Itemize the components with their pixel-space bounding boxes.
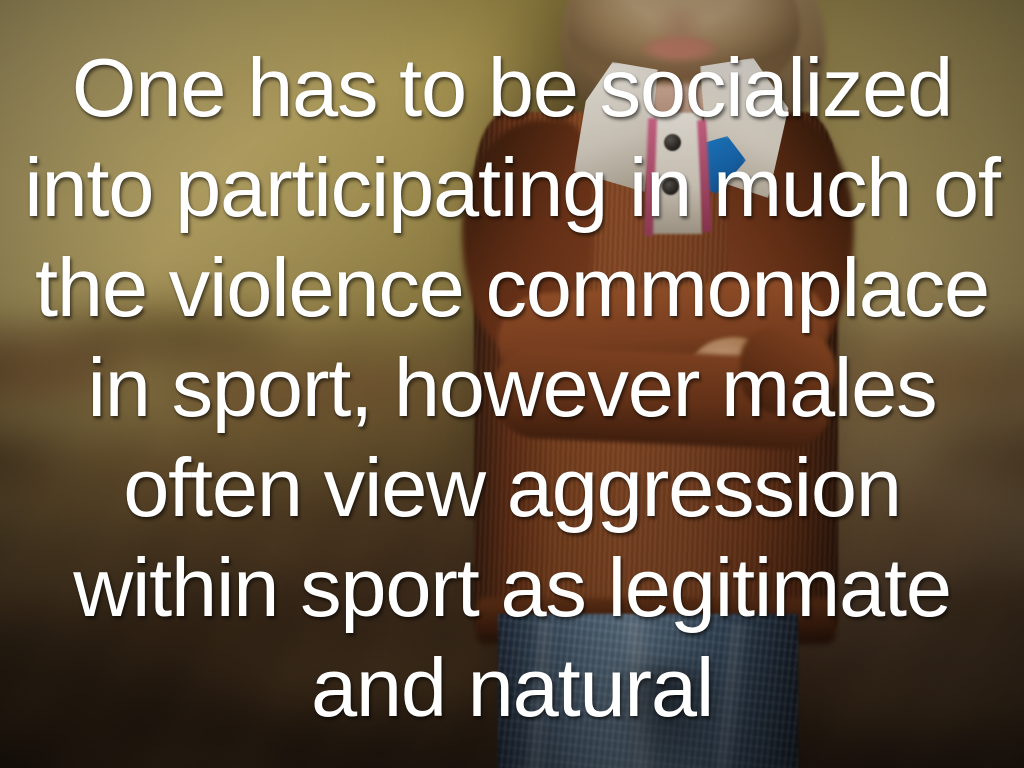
quote-line-1: One has to be socialized bbox=[72, 38, 952, 138]
quote-line-2: into participating in much of bbox=[24, 138, 1000, 238]
quote-slide: One has to be socialized into participat… bbox=[0, 0, 1024, 768]
quote-line-6: within sport as legitimate bbox=[73, 538, 951, 638]
quote-text-block: One has to be socialized into participat… bbox=[0, 0, 1024, 768]
quote-line-4: in sport, however males bbox=[88, 338, 937, 438]
quote-line-3: the violence commonplace bbox=[35, 238, 989, 338]
quote-line-5: often view aggression bbox=[123, 438, 901, 538]
quote-line-7: and natural bbox=[311, 638, 713, 738]
